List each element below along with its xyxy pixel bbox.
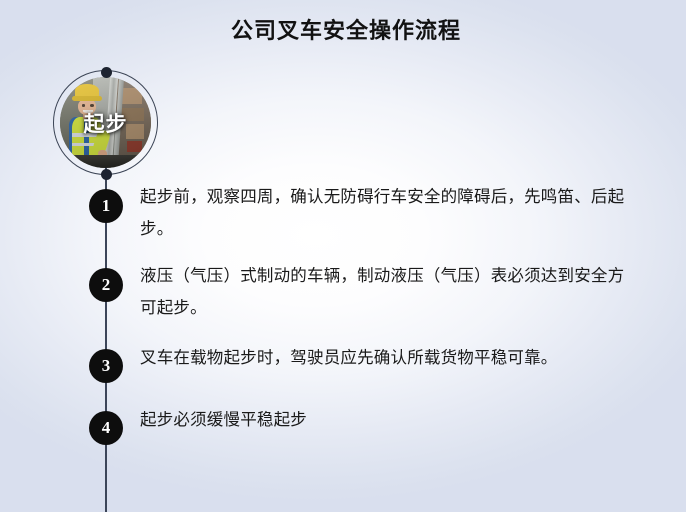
step-number-badge-3: 3 — [89, 349, 123, 383]
step-text-4: 起步必须缓慢平稳起步 — [140, 404, 640, 436]
step-number-badge-1: 1 — [89, 189, 123, 223]
step-text-2: 液压（气压）式制动的车辆，制动液压（气压）表必须达到安全方可起步。 — [140, 260, 640, 324]
timeline-dot-top — [101, 67, 112, 78]
page-title: 公司叉车安全操作流程 — [0, 16, 686, 46]
page-title-text: 公司叉车安全操作流程 — [231, 16, 461, 46]
timeline-dot-bottom — [101, 169, 112, 180]
photo-node: 起步 — [53, 70, 160, 177]
slide-canvas: 公司叉车安全操作流程 — [0, 0, 686, 512]
step-text-3: 叉车在载物起步时，驾驶员应先确认所载货物平稳可靠。 — [140, 342, 640, 374]
step-number-badge-2: 2 — [89, 268, 123, 302]
step-number-badge-4: 4 — [89, 411, 123, 445]
photo-node-label: 起步 — [53, 70, 158, 175]
step-text-1: 起步前，观察四周，确认无防碍行车安全的障碍后，先鸣笛、后起步。 — [140, 181, 640, 245]
